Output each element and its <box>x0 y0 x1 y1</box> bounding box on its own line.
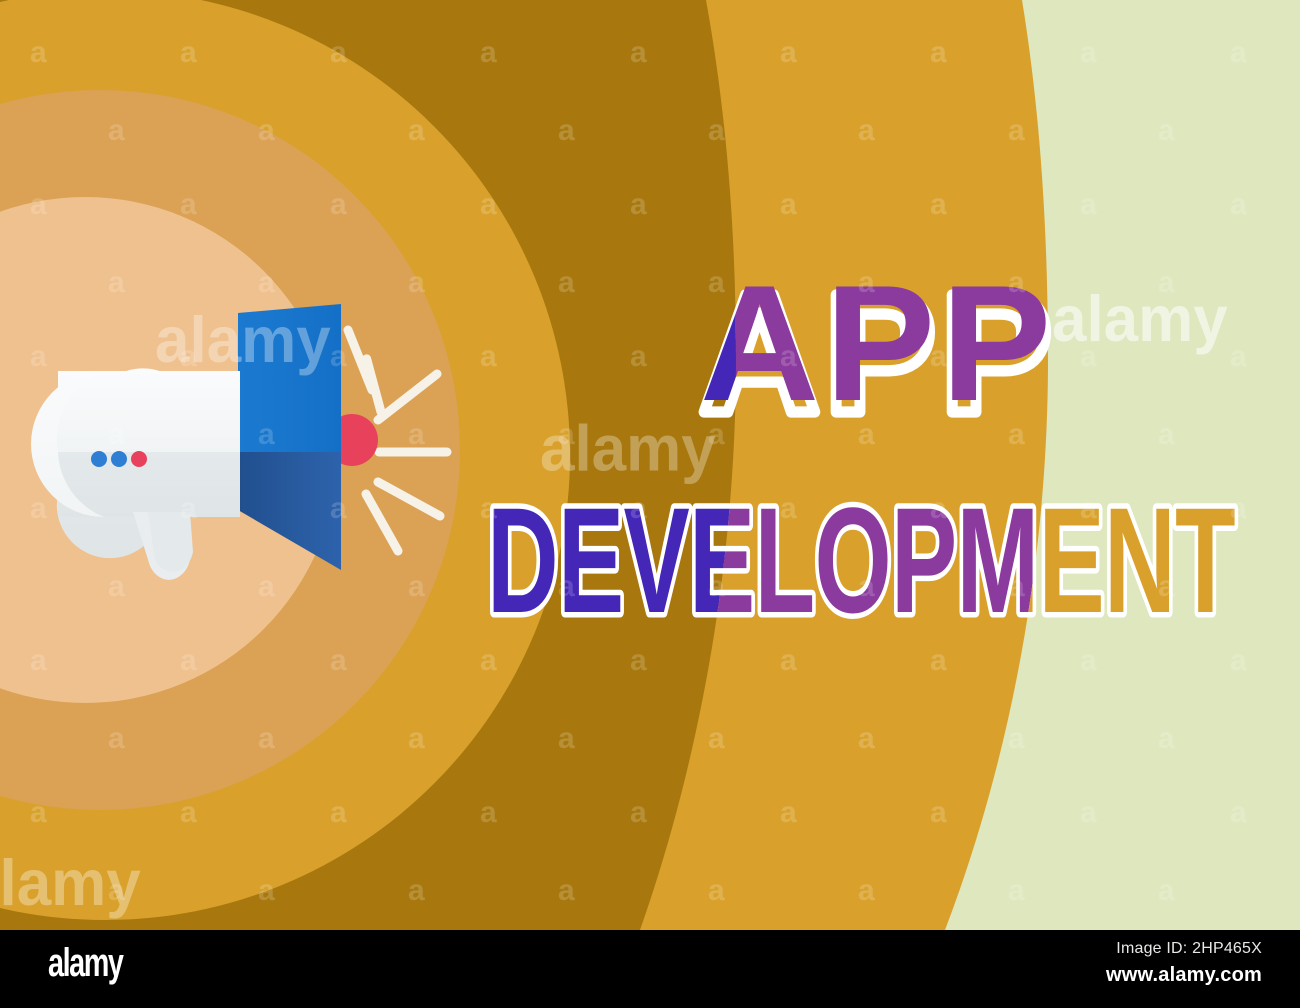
watermark-word-2: alamy <box>540 412 716 485</box>
watermark-word-1: alamy <box>155 304 331 377</box>
artwork-svg: a a <box>0 0 1300 930</box>
screenshot-root: a a <box>0 0 1300 1008</box>
alamy-url: www.alamy.com <box>1106 964 1262 987</box>
watermark-word-3: alamy <box>1052 283 1228 356</box>
image-id-label: Image ID: 2HP465X <box>1116 940 1262 958</box>
alamy-footer-bar: alamy Image ID: 2HP465X www.alamy.com <box>0 930 1300 1008</box>
stock-photo-artwork: a a <box>0 0 1300 930</box>
alamy-watermark-overlay: alamy alamy alamy alamy <box>0 0 1300 930</box>
watermark-word-4: alamy <box>0 847 141 920</box>
alamy-logo: alamy <box>48 941 122 985</box>
